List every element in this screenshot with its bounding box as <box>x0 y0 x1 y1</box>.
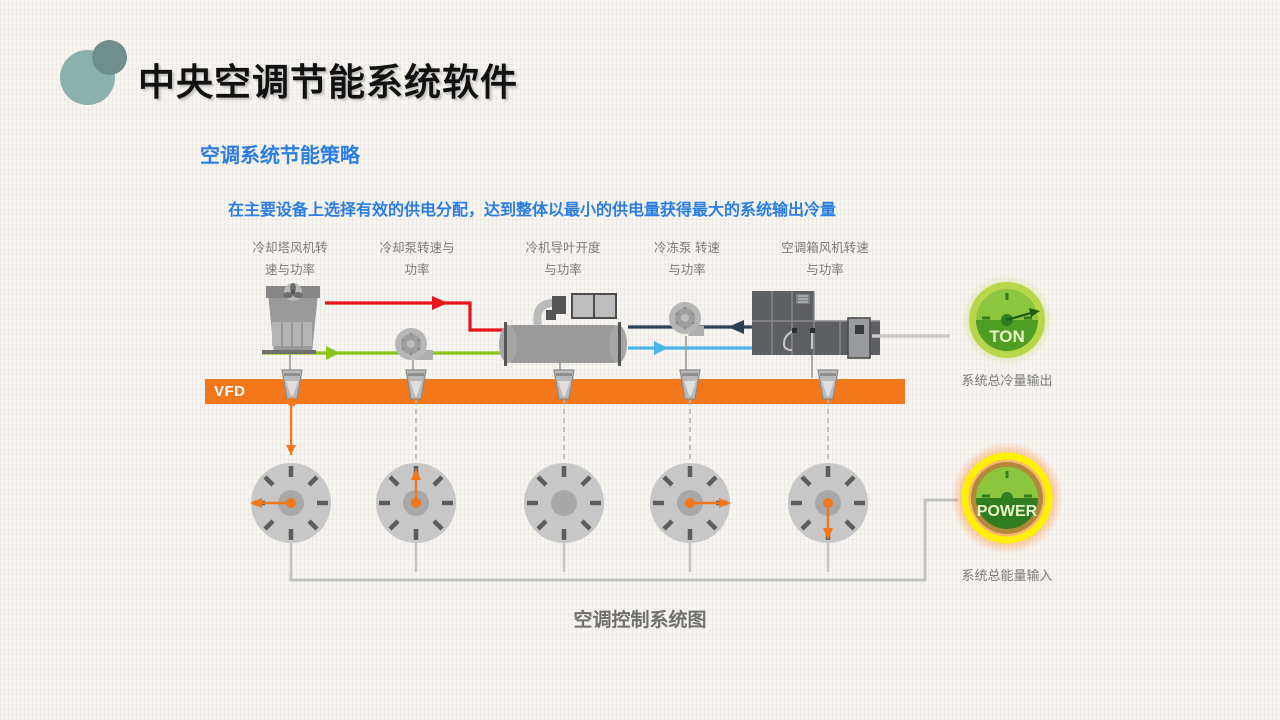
power-gauge: POWER <box>951 442 1063 554</box>
motor-dial-5 <box>788 463 868 572</box>
power-gauge-text: POWER <box>977 503 1038 520</box>
vfd-bus-label: VFD <box>214 383 246 400</box>
ton-gauge-caption: 系统总冷量输出 <box>897 370 1117 389</box>
motor-dial-3 <box>524 463 604 572</box>
slide-canvas: 中央空调节能系统软件 空调系统节能策略 在主要设备上选择有效的供电分配，达到整体… <box>0 0 1280 720</box>
vfd-to-motor-links <box>286 400 828 462</box>
vfd-bus-bar <box>205 379 905 404</box>
motor-dial-1 <box>250 463 331 572</box>
air-handling-unit <box>752 291 880 378</box>
motor-dial-4 <box>650 463 731 572</box>
chiller-unit <box>499 294 627 378</box>
ton-gauge: TON <box>961 274 1053 366</box>
cooling-tower-unit <box>262 283 320 378</box>
power-gauge-caption: 系统总能量输入 <box>897 565 1117 584</box>
chilled-water-pump-unit <box>669 302 704 378</box>
pipe-condenser-return <box>325 296 520 330</box>
diagram-caption: 空调控制系统图 <box>0 605 1280 632</box>
ton-gauge-text: TON <box>989 327 1025 346</box>
motor-dial-2 <box>376 463 456 572</box>
